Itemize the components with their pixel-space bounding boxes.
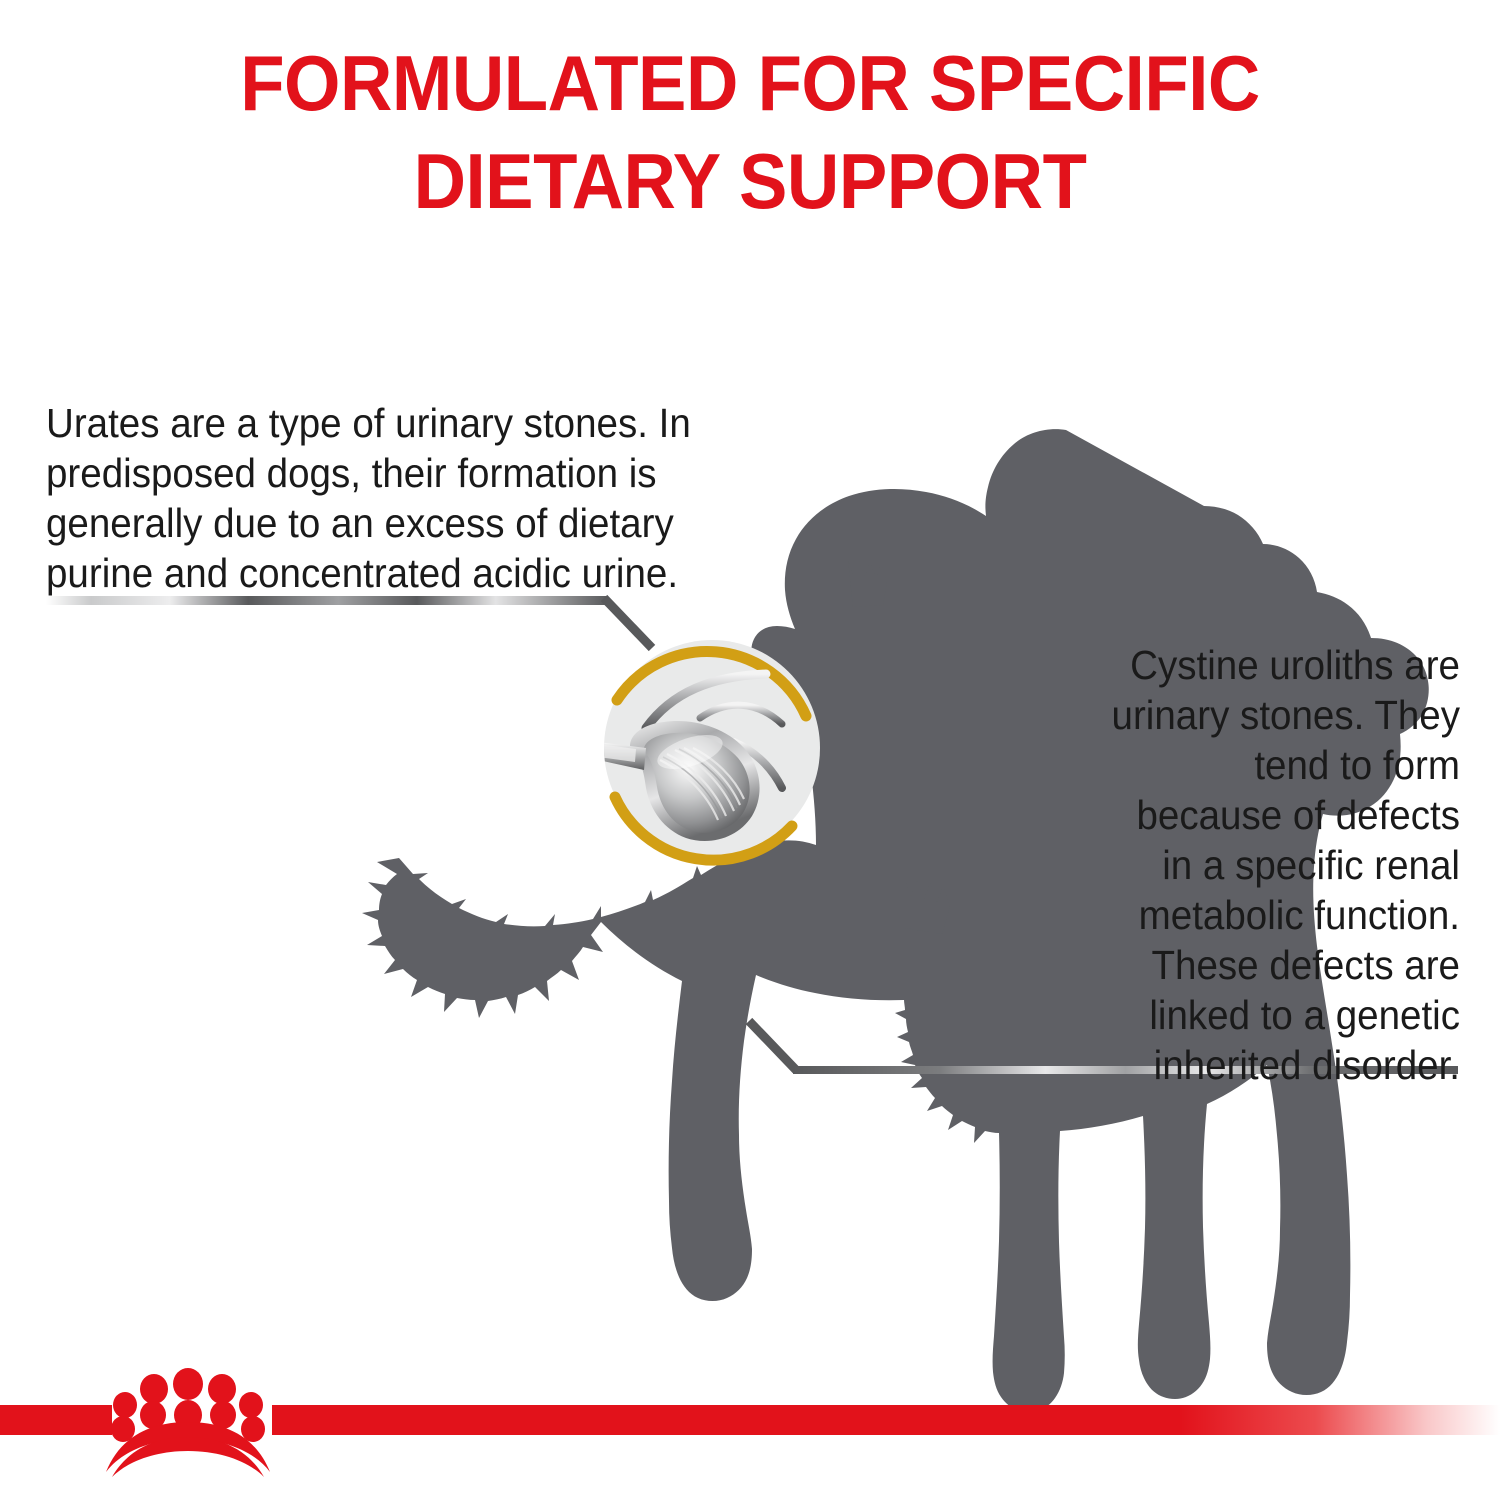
brand-bar-right-segment [272, 1405, 1500, 1435]
callout-text-left: Urates are a type of urinary stones. In … [46, 398, 704, 598]
poster-canvas: FORMULATED FOR SPECIFIC DIETARY SUPPORT [0, 0, 1500, 1500]
dog-fur-fringe-icon [848, 560, 950, 934]
callout-text-right: Cystine uroliths are urinary stones. The… [1103, 640, 1460, 1090]
leader-line-left [46, 596, 652, 648]
bladder-illustration-icon [598, 674, 782, 841]
highlight-disc-background [604, 640, 820, 856]
brand-footer [0, 1405, 1500, 1500]
organ-highlight-disc [598, 640, 820, 860]
gold-accent-ring-icon [615, 651, 806, 860]
brand-bar-left-segment [0, 1405, 112, 1435]
page-title: FORMULATED FOR SPECIFIC DIETARY SUPPORT [53, 34, 1448, 230]
royal-canin-crown-icon [98, 1367, 278, 1477]
